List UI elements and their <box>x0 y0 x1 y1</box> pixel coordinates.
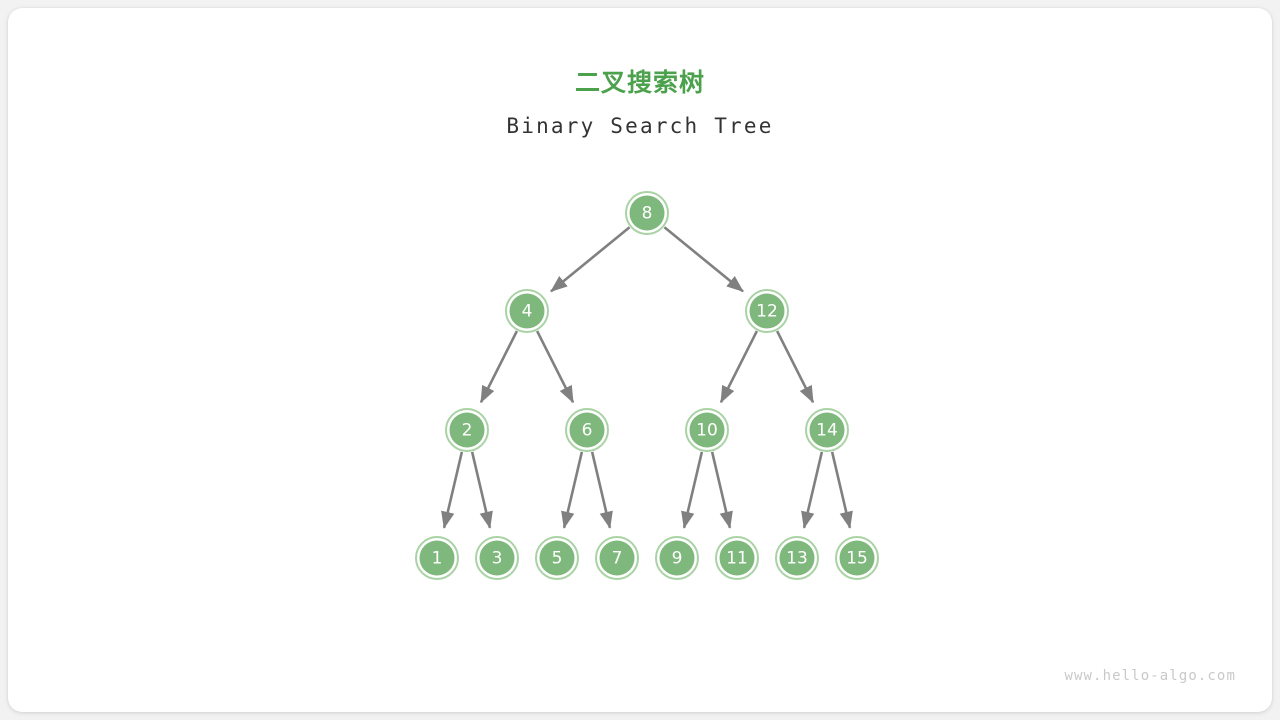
node-label: 14 <box>816 421 838 441</box>
tree-node-2[interactable]: 2 <box>446 409 488 451</box>
tree-edge-4-to-6 <box>537 331 573 402</box>
node-label: 9 <box>672 549 683 569</box>
tree-edge-2-to-3 <box>472 452 490 528</box>
tree-edge-2-to-1 <box>444 452 462 528</box>
node-label: 6 <box>582 421 593 441</box>
node-label: 2 <box>462 421 473 441</box>
node-label: 7 <box>612 549 623 569</box>
tree-edge-14-to-15 <box>832 452 850 528</box>
node-label: 11 <box>726 549 748 569</box>
tree-node-6[interactable]: 6 <box>566 409 608 451</box>
tree-edge-8-to-4 <box>551 227 630 291</box>
tree-edge-12-to-10 <box>721 331 757 402</box>
diagram-card: 二叉搜索树 Binary Search Tree 841226101413579… <box>8 8 1272 712</box>
node-label: 4 <box>522 302 533 322</box>
tree-edge-6-to-5 <box>564 452 582 528</box>
tree-node-7[interactable]: 7 <box>596 537 638 579</box>
tree-edges <box>444 227 850 528</box>
node-label: 15 <box>846 549 868 569</box>
tree-node-3[interactable]: 3 <box>476 537 518 579</box>
tree-node-9[interactable]: 9 <box>656 537 698 579</box>
tree-node-5[interactable]: 5 <box>536 537 578 579</box>
binary-search-tree-diagram: 841226101413579111315 <box>8 8 1272 712</box>
node-label: 8 <box>642 204 653 224</box>
tree-edge-12-to-14 <box>777 331 813 402</box>
tree-node-8[interactable]: 8 <box>626 192 668 234</box>
tree-nodes: 841226101413579111315 <box>416 192 878 579</box>
tree-node-14[interactable]: 14 <box>806 409 848 451</box>
node-label: 1 <box>432 549 443 569</box>
tree-edge-8-to-12 <box>664 227 743 291</box>
tree-node-15[interactable]: 15 <box>836 537 878 579</box>
tree-edge-10-to-9 <box>684 452 702 528</box>
node-label: 10 <box>696 421 718 441</box>
tree-edge-10-to-11 <box>712 452 730 528</box>
node-label: 5 <box>552 549 563 569</box>
tree-node-11[interactable]: 11 <box>716 537 758 579</box>
tree-edge-6-to-7 <box>592 452 610 528</box>
node-label: 3 <box>492 549 503 569</box>
tree-node-12[interactable]: 12 <box>746 290 788 332</box>
node-label: 12 <box>756 302 778 322</box>
tree-node-13[interactable]: 13 <box>776 537 818 579</box>
tree-node-10[interactable]: 10 <box>686 409 728 451</box>
node-label: 13 <box>786 549 808 569</box>
tree-node-1[interactable]: 1 <box>416 537 458 579</box>
tree-edge-14-to-13 <box>804 452 822 528</box>
page-root: 二叉搜索树 Binary Search Tree 841226101413579… <box>0 0 1280 720</box>
tree-edge-4-to-2 <box>481 331 517 402</box>
tree-node-4[interactable]: 4 <box>506 290 548 332</box>
watermark: www.hello-algo.com <box>1064 668 1236 684</box>
